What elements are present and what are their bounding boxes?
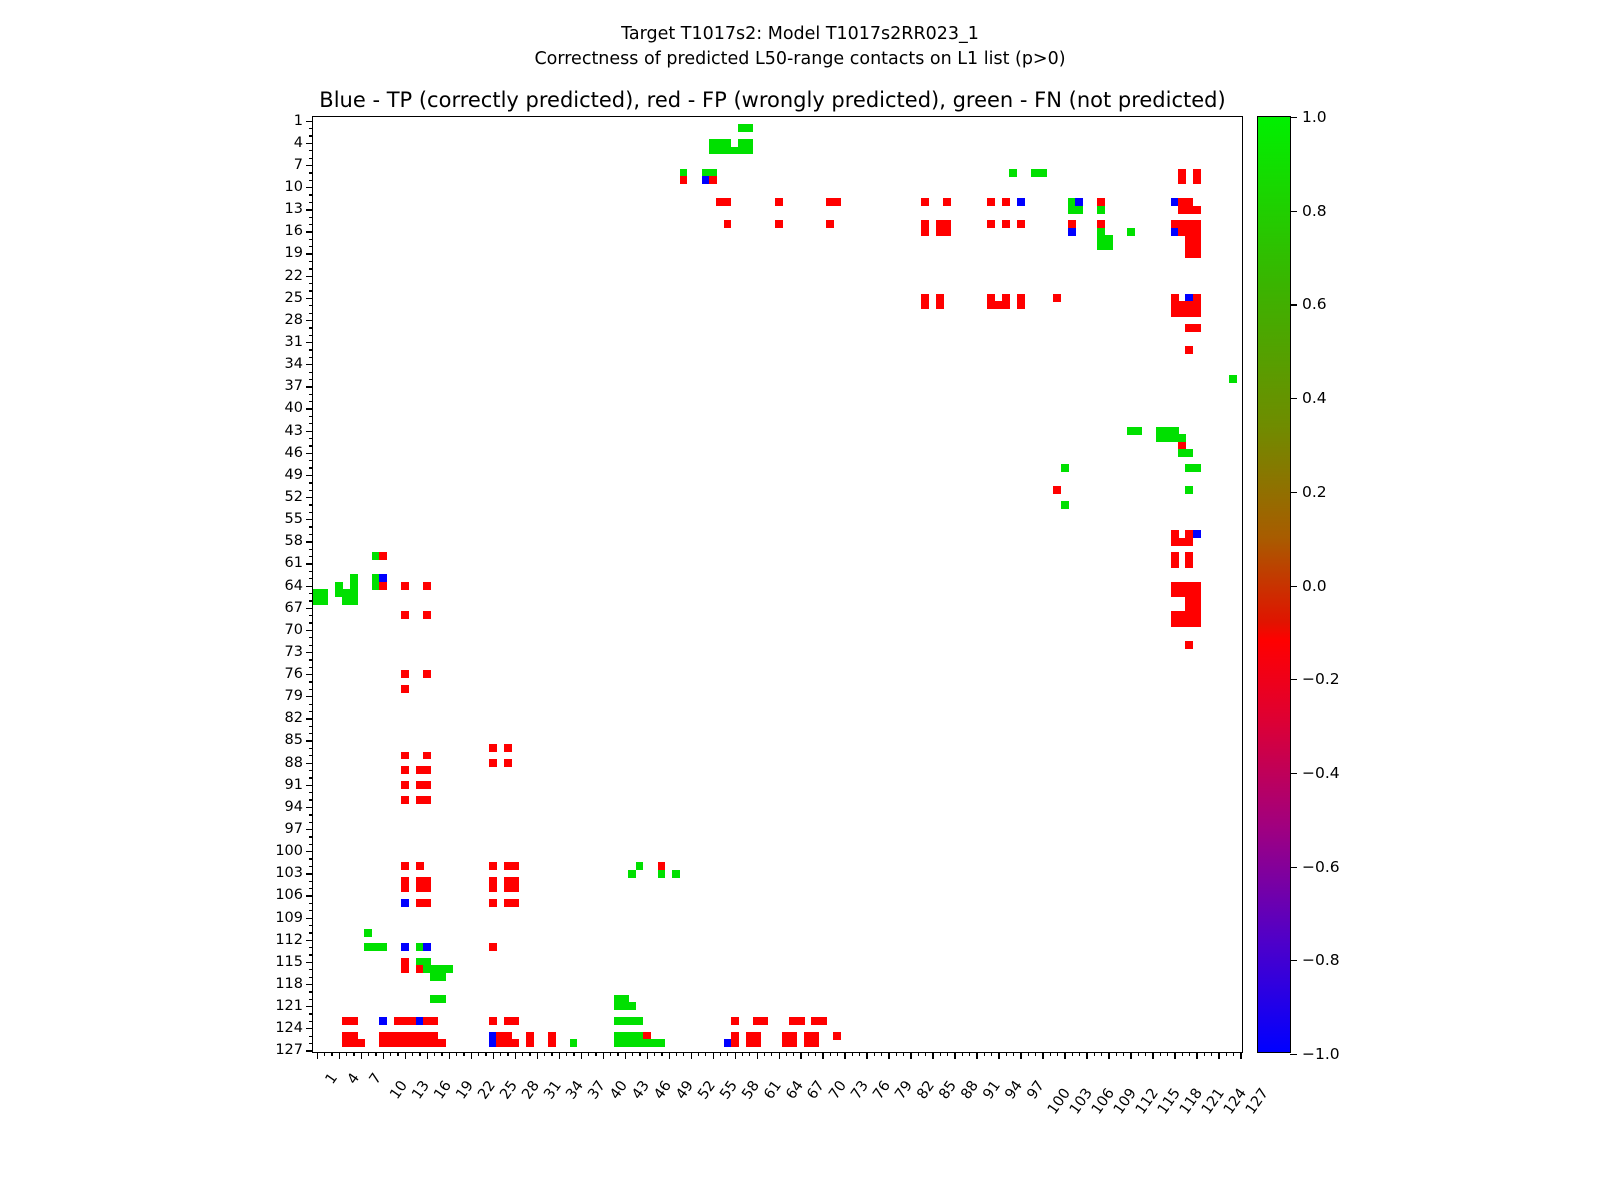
x-tick-label: 67: [805, 1078, 829, 1102]
x-tick-major: [713, 1052, 714, 1059]
contact-cell: [731, 1017, 739, 1025]
y-tick-minor: [309, 999, 313, 1000]
y-tick-minor: [309, 217, 313, 218]
x-tick-major: [559, 1052, 560, 1059]
y-tick-major: [306, 165, 313, 166]
contact-cell: [526, 1039, 534, 1047]
x-tick-label: 115: [1155, 1086, 1184, 1118]
x-tick-minor: [727, 1052, 728, 1056]
y-tick-minor: [309, 1036, 313, 1037]
x-tick-minor: [654, 1052, 655, 1056]
y-tick-minor: [309, 792, 313, 793]
contact-cell: [438, 973, 446, 981]
x-tick-minor: [859, 1052, 860, 1056]
contact-cell: [709, 176, 717, 184]
x-tick-minor: [573, 1052, 574, 1056]
x-tick-major: [735, 1052, 736, 1059]
y-tick-major: [306, 674, 313, 675]
y-tick-minor: [309, 571, 313, 572]
colorbar-tick-label: −1.0: [1302, 1045, 1340, 1063]
y-tick-minor: [309, 733, 313, 734]
colorbar-tick: [1290, 117, 1297, 118]
y-tick-minor: [309, 910, 313, 911]
y-tick-minor: [309, 172, 313, 173]
x-tick-major: [537, 1052, 538, 1059]
contact-cell: [401, 943, 409, 951]
x-tick-minor: [1211, 1052, 1212, 1056]
y-tick-major: [306, 187, 313, 188]
y-tick-major: [306, 320, 313, 321]
y-tick-minor: [309, 637, 313, 638]
x-tick-minor: [947, 1052, 948, 1056]
x-tick-label: 22: [475, 1078, 499, 1102]
x-tick-major: [625, 1052, 626, 1059]
contact-cell: [775, 220, 783, 228]
y-tick-minor: [309, 777, 313, 778]
contact-cell: [628, 1002, 636, 1010]
x-tick-label: 52: [695, 1078, 719, 1102]
y-tick-minor: [309, 512, 313, 513]
contact-cell: [826, 220, 834, 228]
x-tick-major: [822, 1052, 823, 1059]
x-tick-minor: [962, 1052, 963, 1056]
x-tick-major: [427, 1052, 428, 1059]
x-tick-minor: [397, 1052, 398, 1056]
contact-cell: [423, 611, 431, 619]
x-tick-label: 19: [453, 1078, 477, 1102]
contact-cell: [379, 582, 387, 590]
contact-cell: [797, 1017, 805, 1025]
x-tick-minor: [1094, 1052, 1095, 1056]
x-tick-major: [866, 1052, 867, 1059]
y-tick-label: 61: [285, 555, 303, 571]
y-tick-label: 1: [294, 113, 303, 129]
y-tick-major: [306, 851, 313, 852]
x-tick-minor: [478, 1052, 479, 1056]
colorbar-tick: [1290, 586, 1297, 587]
y-tick-minor: [309, 283, 313, 284]
x-tick-minor: [610, 1052, 611, 1056]
x-tick-label: 88: [959, 1078, 983, 1102]
contact-cell: [423, 582, 431, 590]
y-tick-major: [306, 386, 313, 387]
contact-cell: [401, 884, 409, 892]
x-tick-label: 13: [409, 1078, 433, 1102]
y-tick-major: [306, 519, 313, 520]
y-tick-major: [306, 586, 313, 587]
x-tick-minor: [1013, 1052, 1014, 1056]
x-tick-minor: [903, 1052, 904, 1056]
y-tick-major: [306, 962, 313, 963]
contact-cell: [921, 198, 929, 206]
y-tick-label: 118: [275, 976, 303, 992]
y-tick-label: 52: [285, 489, 303, 505]
x-tick-minor: [588, 1052, 589, 1056]
y-tick-major: [306, 763, 313, 764]
x-tick-label: 112: [1133, 1086, 1162, 1118]
x-tick-major: [888, 1052, 889, 1059]
figure-title-line1: Target T1017s2: Model T1017s2RR023_1: [0, 22, 1600, 47]
y-tick-minor: [309, 482, 313, 483]
y-tick-minor: [309, 194, 313, 195]
x-tick-minor: [324, 1052, 325, 1056]
y-tick-minor: [309, 135, 313, 136]
x-tick-major: [317, 1052, 318, 1059]
y-tick-major: [306, 630, 313, 631]
x-tick-minor: [676, 1052, 677, 1056]
y-tick-label: 70: [285, 622, 303, 638]
colorbar-tick: [1290, 773, 1297, 774]
contact-cell: [921, 301, 929, 309]
contact-map-axes[interactable]: 1471013161922252831343740434649525558616…: [312, 116, 1243, 1053]
x-tick-label: 106: [1089, 1086, 1118, 1118]
y-tick-label: 37: [285, 378, 303, 394]
contact-cell: [1193, 176, 1201, 184]
contact-cell: [548, 1039, 556, 1047]
y-tick-major: [306, 608, 313, 609]
contact-cell: [987, 220, 995, 228]
contact-cell: [504, 759, 512, 767]
x-tick-major: [691, 1052, 692, 1059]
x-tick-minor: [896, 1052, 897, 1056]
x-tick-label: 1: [322, 1071, 340, 1088]
x-tick-minor: [1101, 1052, 1102, 1056]
y-tick-label: 43: [285, 423, 303, 439]
y-tick-label: 13: [285, 201, 303, 217]
x-tick-major: [669, 1052, 670, 1059]
x-tick-label: 4: [344, 1071, 362, 1088]
y-tick-major: [306, 253, 313, 254]
y-tick-label: 127: [275, 1042, 303, 1058]
y-tick-minor: [309, 261, 313, 262]
contact-cell: [833, 1032, 841, 1040]
contact-cell: [1075, 206, 1083, 214]
contact-cell: [423, 796, 431, 804]
x-tick-minor: [705, 1052, 706, 1056]
contact-cell: [1193, 250, 1201, 258]
contact-cell: [672, 870, 680, 878]
x-tick-minor: [529, 1052, 530, 1056]
contact-cell: [423, 884, 431, 892]
contact-cell: [511, 862, 519, 870]
contact-cell: [943, 198, 951, 206]
x-tick-minor: [764, 1052, 765, 1056]
x-tick-minor: [632, 1052, 633, 1056]
x-tick-minor: [984, 1052, 985, 1056]
contact-cell: [401, 862, 409, 870]
contact-cell: [1061, 501, 1069, 509]
x-tick-label: 79: [893, 1078, 917, 1102]
contact-cell: [1002, 301, 1010, 309]
x-tick-minor: [353, 1052, 354, 1056]
y-tick-minor: [309, 349, 313, 350]
x-tick-minor: [1079, 1052, 1080, 1056]
y-tick-label: 106: [275, 887, 303, 903]
contact-cell: [746, 124, 754, 132]
y-tick-minor: [309, 1021, 313, 1022]
x-tick-minor: [485, 1052, 486, 1056]
x-tick-minor: [830, 1052, 831, 1056]
contact-cell: [1053, 486, 1061, 494]
x-tick-minor: [617, 1052, 618, 1056]
y-tick-minor: [309, 202, 313, 203]
y-tick-minor: [309, 881, 313, 882]
colorbar-tick-label: −0.4: [1302, 764, 1340, 782]
y-tick-label: 121: [275, 998, 303, 1014]
x-tick-label: 43: [629, 1078, 653, 1102]
x-tick-minor: [1233, 1052, 1234, 1056]
y-tick-minor: [309, 615, 313, 616]
x-tick-minor: [595, 1052, 596, 1056]
y-tick-minor: [309, 379, 313, 380]
x-tick-major: [471, 1052, 472, 1059]
x-tick-label: 70: [827, 1078, 851, 1102]
y-tick-minor: [309, 180, 313, 181]
contact-cell: [724, 220, 732, 228]
y-tick-minor: [309, 770, 313, 771]
y-tick-major: [306, 984, 313, 985]
contact-cell: [401, 670, 409, 678]
y-tick-minor: [309, 903, 313, 904]
x-tick-minor: [940, 1052, 941, 1056]
x-tick-label: 7: [366, 1071, 384, 1088]
colorbar-tick: [1290, 398, 1297, 399]
y-tick-major: [306, 1028, 313, 1029]
y-tick-major: [306, 918, 313, 919]
y-tick-label: 19: [285, 245, 303, 261]
x-tick-minor: [808, 1052, 809, 1056]
colorbar-tick: [1290, 1054, 1297, 1055]
y-tick-major: [306, 541, 313, 542]
x-tick-minor: [1116, 1052, 1117, 1056]
y-tick-minor: [309, 158, 313, 159]
y-tick-minor: [309, 645, 313, 646]
y-tick-major: [306, 1006, 313, 1007]
contact-cell: [753, 1039, 761, 1047]
y-tick-minor: [309, 128, 313, 129]
x-tick-major: [581, 1052, 582, 1059]
y-tick-label: 25: [285, 290, 303, 306]
colorbar-tick-label: −0.2: [1302, 670, 1340, 688]
y-tick-label: 67: [285, 600, 303, 616]
x-tick-minor: [390, 1052, 391, 1056]
contact-cell: [1185, 641, 1193, 649]
x-tick-label: 46: [651, 1078, 675, 1102]
y-tick-minor: [309, 866, 313, 867]
y-tick-minor: [309, 925, 313, 926]
x-tick-minor: [852, 1052, 853, 1056]
contact-cell: [379, 552, 387, 560]
y-tick-label: 91: [285, 777, 303, 793]
y-tick-label: 82: [285, 710, 303, 726]
y-tick-major: [306, 342, 313, 343]
y-tick-minor: [309, 667, 313, 668]
x-tick-minor: [1035, 1052, 1036, 1056]
x-tick-minor: [1226, 1052, 1227, 1056]
y-tick-major: [306, 895, 313, 896]
contact-cell: [430, 1017, 438, 1025]
x-tick-major: [954, 1052, 955, 1059]
contact-cell: [1185, 560, 1193, 568]
y-tick-label: 10: [285, 179, 303, 195]
contact-cell: [775, 198, 783, 206]
y-tick-major: [306, 231, 313, 232]
y-tick-label: 85: [285, 732, 303, 748]
colorbar-tick-label: 1.0: [1302, 108, 1327, 126]
contact-cell: [819, 1017, 827, 1025]
y-tick-label: 103: [275, 865, 303, 881]
contact-cell: [401, 965, 409, 973]
y-tick-major: [306, 718, 313, 719]
x-tick-major: [383, 1052, 384, 1059]
x-tick-major: [1218, 1052, 1219, 1059]
y-tick-minor: [309, 423, 313, 424]
y-tick-label: 124: [275, 1020, 303, 1036]
x-tick-minor: [991, 1052, 992, 1056]
x-tick-minor: [837, 1052, 838, 1056]
x-tick-minor: [551, 1052, 552, 1056]
contact-cell: [789, 1039, 797, 1047]
contact-cell: [350, 1017, 358, 1025]
y-tick-minor: [309, 681, 313, 682]
y-tick-major: [306, 143, 313, 144]
contact-cell: [1229, 375, 1237, 383]
x-tick-minor: [1050, 1052, 1051, 1056]
y-tick-minor: [309, 526, 313, 527]
x-tick-minor: [441, 1052, 442, 1056]
contact-cell: [1185, 449, 1193, 457]
y-tick-minor: [309, 224, 313, 225]
y-tick-label: 73: [285, 644, 303, 660]
contact-cell: [1193, 530, 1201, 538]
colorbar-tick: [1290, 679, 1297, 680]
x-tick-minor: [434, 1052, 435, 1056]
y-tick-label: 58: [285, 533, 303, 549]
x-tick-major: [1130, 1052, 1131, 1059]
y-tick-minor: [309, 1013, 313, 1014]
y-tick-minor: [309, 416, 313, 417]
x-tick-minor: [1182, 1052, 1183, 1056]
y-tick-minor: [309, 268, 313, 269]
x-tick-label: 28: [519, 1078, 543, 1102]
y-tick-minor: [309, 836, 313, 837]
y-tick-minor: [309, 711, 313, 712]
contact-cell: [1053, 294, 1061, 302]
y-tick-minor: [309, 822, 313, 823]
contact-cell: [1171, 560, 1179, 568]
y-tick-label: 64: [285, 578, 303, 594]
x-tick-minor: [1189, 1052, 1190, 1056]
x-tick-minor: [566, 1052, 567, 1056]
x-tick-minor: [742, 1052, 743, 1056]
y-tick-minor: [309, 814, 313, 815]
contact-cell: [511, 1039, 519, 1047]
contact-cell: [658, 870, 666, 878]
x-tick-minor: [544, 1052, 545, 1056]
contact-cell: [1017, 301, 1025, 309]
x-tick-label: 34: [563, 1078, 587, 1102]
y-tick-major: [306, 298, 313, 299]
contact-cell: [423, 781, 431, 789]
y-tick-major: [306, 121, 313, 122]
y-tick-minor: [309, 246, 313, 247]
x-tick-minor: [346, 1052, 347, 1056]
contact-cell: [1002, 220, 1010, 228]
x-tick-minor: [720, 1052, 721, 1056]
x-tick-label: 55: [717, 1078, 741, 1102]
y-tick-minor: [309, 600, 313, 601]
y-tick-minor: [309, 704, 313, 705]
contact-cell: [1193, 324, 1201, 332]
contact-cell: [636, 1017, 644, 1025]
x-tick-minor: [925, 1052, 926, 1056]
y-tick-major: [306, 497, 313, 498]
y-tick-minor: [309, 335, 313, 336]
y-tick-major: [306, 563, 313, 564]
colorbar-tick: [1290, 304, 1297, 305]
y-tick-minor: [309, 622, 313, 623]
x-tick-minor: [1145, 1052, 1146, 1056]
y-tick-minor: [309, 888, 313, 889]
x-tick-minor: [1072, 1052, 1073, 1056]
contact-cell: [1193, 309, 1201, 317]
contact-cell: [1193, 619, 1201, 627]
colorbar-tick: [1290, 867, 1297, 868]
x-tick-major: [449, 1052, 450, 1059]
contact-cell: [445, 965, 453, 973]
x-tick-label: 64: [783, 1078, 807, 1102]
y-tick-minor: [309, 799, 313, 800]
y-tick-label: 16: [285, 223, 303, 239]
y-tick-major: [306, 829, 313, 830]
x-tick-major: [493, 1052, 494, 1059]
x-tick-label: 76: [871, 1078, 895, 1102]
x-tick-major: [910, 1052, 911, 1059]
contact-cell: [760, 1017, 768, 1025]
y-tick-minor: [309, 490, 313, 491]
y-tick-major: [306, 873, 313, 874]
contact-cell: [401, 899, 409, 907]
y-tick-label: 115: [275, 954, 303, 970]
contact-cell: [401, 582, 409, 590]
y-tick-minor: [309, 947, 313, 948]
contact-cell: [936, 301, 944, 309]
x-tick-label: 124: [1221, 1086, 1250, 1118]
x-tick-minor: [639, 1052, 640, 1056]
contact-cell: [724, 198, 732, 206]
contact-cell: [1185, 346, 1193, 354]
contact-cell: [438, 995, 446, 1003]
x-tick-minor: [683, 1052, 684, 1056]
contact-map-cells: [313, 117, 1242, 1052]
y-tick-minor: [309, 438, 313, 439]
y-tick-minor: [309, 932, 313, 933]
contact-cell: [357, 1039, 365, 1047]
x-tick-major: [757, 1052, 758, 1059]
y-tick-label: 31: [285, 334, 303, 350]
colorbar-tick: [1290, 492, 1297, 493]
y-tick-minor: [309, 305, 313, 306]
y-tick-major: [306, 940, 313, 941]
x-tick-minor: [507, 1052, 508, 1056]
x-tick-label: 58: [739, 1078, 763, 1102]
y-tick-major: [306, 740, 313, 741]
y-tick-minor: [309, 556, 313, 557]
figure-title-block: Target T1017s2: Model T1017s2RR023_1 Cor…: [0, 22, 1600, 72]
contact-cell: [511, 884, 519, 892]
y-tick-label: 109: [275, 910, 303, 926]
x-tick-major: [1174, 1052, 1175, 1059]
